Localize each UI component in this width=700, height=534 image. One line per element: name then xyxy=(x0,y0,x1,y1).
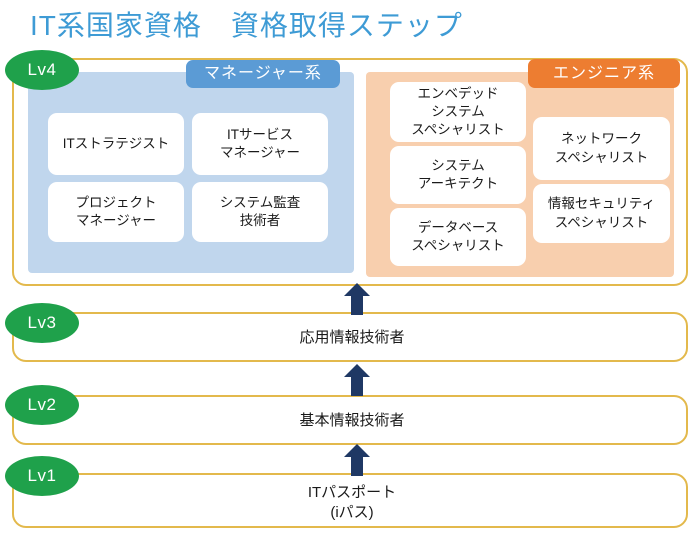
level-badge-lv3: Lv3 xyxy=(5,303,79,343)
level-row-lv1: ITパスポート (iパス) xyxy=(12,473,688,528)
level-row-lv2: 基本情報技術者 xyxy=(12,395,688,445)
level-badge-lv1: Lv1 xyxy=(5,456,79,496)
page-title: IT系国家資格 資格取得ステップ xyxy=(30,6,670,46)
cert-card-network-specialist[interactable]: ネットワーク スペシャリスト xyxy=(533,117,670,180)
arrow-lv2-to-lv3-icon xyxy=(344,364,370,396)
arrow-lv3-to-lv4-icon xyxy=(344,283,370,315)
manager-category-tab[interactable]: マネージャー系 xyxy=(186,60,340,88)
level-row-lv3: 応用情報技術者 xyxy=(12,312,688,362)
level-label-lv1: ITパスポート (iパス) xyxy=(14,483,690,524)
cert-card-system-auditor[interactable]: システム監査 技術者 xyxy=(192,182,328,242)
cert-card-embedded-system-specialist[interactable]: エンベデッド システム スペシャリスト xyxy=(390,82,526,142)
cert-card-it-service-manager[interactable]: ITサービス マネージャー xyxy=(192,113,328,175)
level-label-lv3: 応用情報技術者 xyxy=(14,328,690,348)
arrow-lv1-to-lv2-icon xyxy=(344,444,370,476)
level-badge-lv4: Lv4 xyxy=(5,50,79,90)
diagram-canvas: IT系国家資格 資格取得ステップ マネージャー系 エンジニア系 ITストラテジス… xyxy=(0,0,700,534)
level-badge-lv2: Lv2 xyxy=(5,385,79,425)
level-label-lv2: 基本情報技術者 xyxy=(14,411,690,431)
cert-card-database-specialist[interactable]: データベース スペシャリスト xyxy=(390,208,526,266)
cert-card-it-strategist[interactable]: ITストラテジスト xyxy=(48,113,184,175)
cert-card-project-manager[interactable]: プロジェクト マネージャー xyxy=(48,182,184,242)
cert-card-information-security-specialist[interactable]: 情報セキュリティ スペシャリスト xyxy=(533,184,670,243)
cert-card-system-architect[interactable]: システム アーキテクト xyxy=(390,146,526,204)
engineer-category-tab[interactable]: エンジニア系 xyxy=(528,59,680,88)
